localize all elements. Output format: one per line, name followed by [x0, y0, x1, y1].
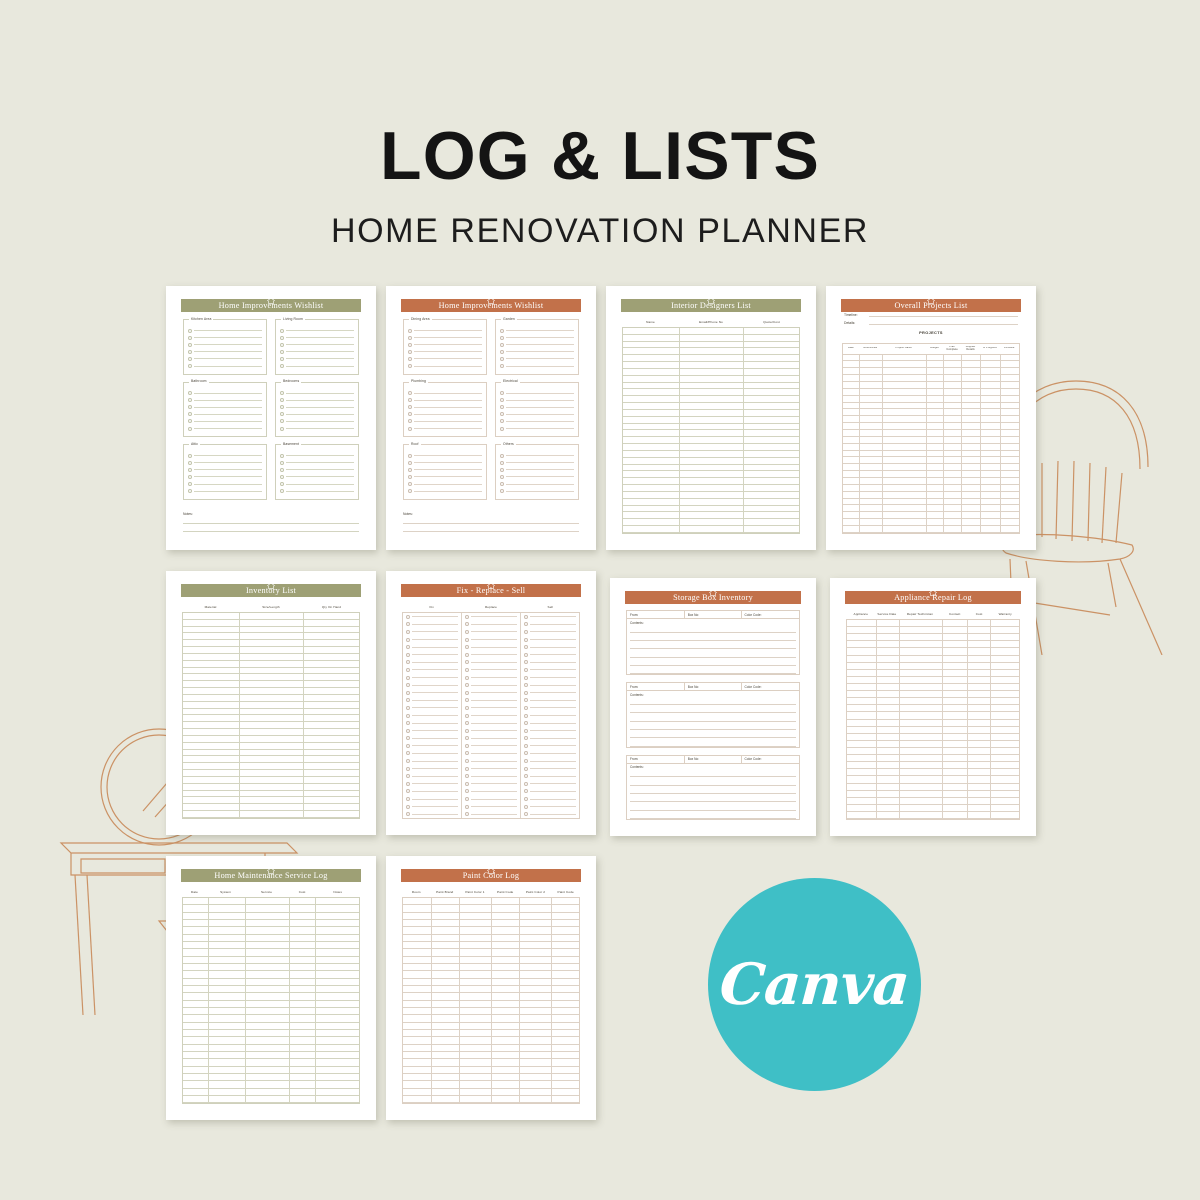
checkbox-circle-icon[interactable] — [406, 630, 410, 634]
write-line[interactable] — [286, 484, 354, 485]
write-line[interactable] — [412, 669, 458, 670]
table-row[interactable] — [843, 478, 1019, 485]
write-line[interactable] — [471, 700, 517, 701]
table-row[interactable] — [183, 898, 359, 905]
write-line[interactable] — [530, 791, 576, 792]
checklist-item[interactable] — [462, 621, 520, 629]
checklist-item[interactable] — [462, 697, 520, 705]
table-row[interactable] — [847, 648, 1019, 655]
write-line[interactable] — [194, 414, 262, 415]
checklist-item[interactable] — [521, 735, 579, 743]
checkbox-circle-icon[interactable] — [524, 645, 528, 649]
table-row[interactable] — [403, 964, 579, 971]
write-line[interactable] — [630, 713, 796, 721]
table-row[interactable] — [843, 423, 1019, 430]
write-line[interactable] — [412, 692, 458, 693]
write-line[interactable] — [194, 455, 262, 456]
checkbox-circle-icon[interactable] — [500, 343, 504, 347]
checklist-item[interactable] — [403, 704, 461, 712]
checklist-item[interactable] — [462, 643, 520, 651]
write-line[interactable] — [471, 707, 517, 708]
write-line[interactable] — [412, 814, 458, 815]
table-row[interactable] — [843, 382, 1019, 389]
write-line[interactable] — [506, 393, 574, 394]
table-row[interactable] — [847, 656, 1019, 663]
table-row[interactable] — [623, 348, 799, 355]
checkbox-circle-icon[interactable] — [524, 676, 528, 680]
write-line[interactable] — [194, 421, 262, 422]
write-line[interactable] — [286, 428, 354, 429]
planner-page-interior-designers-list[interactable]: Interior Designers ListNameEmail/Phone N… — [606, 286, 816, 550]
table-row[interactable] — [843, 526, 1019, 533]
planner-page-appliance-repair-log[interactable]: Appliance Repair LogApplianceService Dat… — [830, 578, 1036, 836]
checkbox-circle-icon[interactable] — [406, 721, 410, 725]
checkbox-circle-icon[interactable] — [280, 454, 284, 458]
storage-content-lines[interactable] — [627, 769, 799, 819]
table-row[interactable] — [183, 1059, 359, 1066]
checkbox-circle-icon[interactable] — [280, 336, 284, 340]
write-line[interactable] — [286, 462, 354, 463]
table-row[interactable] — [843, 451, 1019, 458]
checkbox-circle-icon[interactable] — [500, 350, 504, 354]
wishlist-item[interactable] — [500, 488, 574, 495]
write-line[interactable] — [630, 658, 796, 666]
wishlist-item[interactable] — [408, 404, 482, 411]
table-row[interactable] — [623, 417, 799, 424]
write-line[interactable] — [414, 462, 482, 463]
table-row[interactable] — [183, 920, 359, 927]
table-row[interactable] — [847, 805, 1019, 812]
table-row[interactable] — [183, 633, 359, 640]
field-input-line[interactable] — [869, 312, 1018, 317]
write-line[interactable] — [630, 633, 796, 641]
table-row[interactable] — [183, 971, 359, 978]
table-row[interactable] — [623, 383, 799, 390]
write-line[interactable] — [471, 677, 517, 678]
table-row[interactable] — [403, 1030, 579, 1037]
table-row[interactable] — [183, 1008, 359, 1015]
checkbox-circle-icon[interactable] — [408, 364, 412, 368]
form-field[interactable]: Timeline: — [844, 312, 1018, 317]
checkbox-circle-icon[interactable] — [465, 706, 469, 710]
table-row[interactable] — [623, 471, 799, 478]
write-line[interactable] — [412, 677, 458, 678]
write-line[interactable] — [194, 491, 262, 492]
table-row[interactable] — [847, 663, 1019, 670]
planner-page-overall-projects-list[interactable]: Overall Projects ListTimeline:Details:PR… — [826, 286, 1036, 550]
write-line[interactable] — [412, 707, 458, 708]
table-row[interactable] — [183, 784, 359, 791]
table-row[interactable] — [183, 688, 359, 695]
checklist-item[interactable] — [462, 727, 520, 735]
checkbox-circle-icon[interactable] — [500, 482, 504, 486]
checkbox-circle-icon[interactable] — [524, 721, 528, 725]
write-line[interactable] — [530, 669, 576, 670]
wishlist-item[interactable] — [500, 334, 574, 341]
checkbox-circle-icon[interactable] — [500, 427, 504, 431]
wishlist-item[interactable] — [188, 327, 262, 334]
write-line[interactable] — [471, 783, 517, 784]
checkbox-circle-icon[interactable] — [465, 615, 469, 619]
checkbox-circle-icon[interactable] — [406, 729, 410, 733]
table-body[interactable] — [846, 619, 1020, 820]
checkbox-circle-icon[interactable] — [188, 489, 192, 493]
checkbox-circle-icon[interactable] — [500, 454, 504, 458]
checklist-item[interactable] — [403, 651, 461, 659]
table-row[interactable] — [183, 964, 359, 971]
write-line[interactable] — [412, 723, 458, 724]
write-line[interactable] — [471, 654, 517, 655]
checkbox-circle-icon[interactable] — [465, 805, 469, 809]
checkbox-circle-icon[interactable] — [280, 461, 284, 465]
table-row[interactable] — [847, 634, 1019, 641]
checkbox-circle-icon[interactable] — [188, 329, 192, 333]
checkbox-circle-icon[interactable] — [465, 653, 469, 657]
wishlist-item[interactable] — [188, 459, 262, 466]
table-row[interactable] — [183, 722, 359, 729]
write-line[interactable] — [630, 738, 796, 746]
table-row[interactable] — [843, 355, 1019, 362]
write-line[interactable] — [412, 806, 458, 807]
checkbox-circle-icon[interactable] — [408, 329, 412, 333]
checkbox-circle-icon[interactable] — [500, 329, 504, 333]
write-line[interactable] — [194, 351, 262, 352]
checkbox-circle-icon[interactable] — [188, 391, 192, 395]
table-row[interactable] — [183, 647, 359, 654]
table-row[interactable] — [183, 654, 359, 661]
checkbox-circle-icon[interactable] — [280, 329, 284, 333]
table-row[interactable] — [847, 727, 1019, 734]
table-row[interactable] — [183, 1037, 359, 1044]
checkbox-circle-icon[interactable] — [406, 653, 410, 657]
write-line[interactable] — [286, 330, 354, 331]
table-row[interactable] — [843, 368, 1019, 375]
write-line[interactable] — [414, 428, 482, 429]
checklist-item[interactable] — [462, 613, 520, 621]
checkbox-circle-icon[interactable] — [465, 797, 469, 801]
table-row[interactable] — [183, 804, 359, 811]
checkbox-circle-icon[interactable] — [408, 468, 412, 472]
write-line[interactable] — [471, 799, 517, 800]
checkbox-circle-icon[interactable] — [524, 638, 528, 642]
checkbox-circle-icon[interactable] — [524, 660, 528, 664]
wishlist-item[interactable] — [500, 481, 574, 488]
table-row[interactable] — [843, 430, 1019, 437]
write-line[interactable] — [530, 814, 576, 815]
wishlist-item[interactable] — [500, 404, 574, 411]
table-row[interactable] — [623, 335, 799, 342]
table-row[interactable] — [183, 763, 359, 770]
wishlist-item[interactable] — [500, 425, 574, 432]
checkbox-circle-icon[interactable] — [524, 797, 528, 801]
write-line[interactable] — [414, 414, 482, 415]
write-line[interactable] — [506, 366, 574, 367]
table-row[interactable] — [183, 743, 359, 750]
table-row[interactable] — [403, 993, 579, 1000]
table-row[interactable] — [183, 640, 359, 647]
write-line[interactable] — [414, 421, 482, 422]
write-line[interactable] — [530, 616, 576, 617]
checkbox-circle-icon[interactable] — [408, 357, 412, 361]
table-row[interactable] — [183, 736, 359, 743]
write-line[interactable] — [471, 738, 517, 739]
checklist-item[interactable] — [521, 795, 579, 803]
checkbox-circle-icon[interactable] — [500, 412, 504, 416]
checkbox-circle-icon[interactable] — [406, 698, 410, 702]
checkbox-circle-icon[interactable] — [408, 398, 412, 402]
checkbox-circle-icon[interactable] — [280, 343, 284, 347]
checkbox-circle-icon[interactable] — [280, 412, 284, 416]
write-line[interactable] — [506, 484, 574, 485]
table-row[interactable] — [623, 512, 799, 519]
table-row[interactable] — [403, 971, 579, 978]
write-line[interactable] — [412, 715, 458, 716]
table-row[interactable] — [847, 769, 1019, 776]
table-row[interactable] — [847, 641, 1019, 648]
table-row[interactable] — [843, 464, 1019, 471]
write-line[interactable] — [530, 768, 576, 769]
checkbox-circle-icon[interactable] — [406, 736, 410, 740]
wishlist-item[interactable] — [408, 334, 482, 341]
write-line[interactable] — [414, 351, 482, 352]
write-line[interactable] — [506, 491, 574, 492]
table-row[interactable] — [843, 375, 1019, 382]
canva-logo-badge[interactable]: Canva — [708, 878, 921, 1091]
checkbox-circle-icon[interactable] — [500, 489, 504, 493]
write-line[interactable] — [506, 428, 574, 429]
checkbox-circle-icon[interactable] — [500, 419, 504, 423]
write-line[interactable] — [194, 366, 262, 367]
checkbox-circle-icon[interactable] — [500, 405, 504, 409]
table-row[interactable] — [183, 1052, 359, 1059]
write-line[interactable] — [194, 330, 262, 331]
checkbox-circle-icon[interactable] — [524, 767, 528, 771]
checklist-item[interactable] — [462, 674, 520, 682]
write-line[interactable] — [194, 344, 262, 345]
table-row[interactable] — [843, 396, 1019, 403]
write-line[interactable] — [471, 692, 517, 693]
checklist-item[interactable] — [462, 795, 520, 803]
write-line[interactable] — [506, 358, 574, 359]
table-row[interactable] — [183, 1081, 359, 1088]
checklist-item[interactable] — [462, 742, 520, 750]
write-line[interactable] — [403, 516, 579, 524]
table-row[interactable] — [183, 993, 359, 1000]
wishlist-item[interactable] — [408, 488, 482, 495]
write-line[interactable] — [630, 666, 796, 674]
checklist-item[interactable] — [521, 704, 579, 712]
table-row[interactable] — [847, 620, 1019, 627]
table-row[interactable] — [847, 734, 1019, 741]
table-row[interactable] — [403, 927, 579, 934]
write-line[interactable] — [530, 662, 576, 663]
write-line[interactable] — [414, 393, 482, 394]
table-row[interactable] — [183, 949, 359, 956]
checkbox-circle-icon[interactable] — [188, 364, 192, 368]
wishlist-item[interactable] — [188, 466, 262, 473]
checkbox-circle-icon[interactable] — [524, 653, 528, 657]
write-line[interactable] — [194, 400, 262, 401]
checkbox-circle-icon[interactable] — [524, 774, 528, 778]
table-row[interactable] — [623, 451, 799, 458]
checkbox-circle-icon[interactable] — [500, 398, 504, 402]
wishlist-item[interactable] — [500, 418, 574, 425]
checkbox-circle-icon[interactable] — [465, 660, 469, 664]
write-line[interactable] — [414, 366, 482, 367]
table-row[interactable] — [847, 691, 1019, 698]
wishlist-item[interactable] — [188, 397, 262, 404]
table-row[interactable] — [843, 471, 1019, 478]
checklist-item[interactable] — [462, 659, 520, 667]
checkbox-circle-icon[interactable] — [465, 782, 469, 786]
write-line[interactable] — [412, 776, 458, 777]
checkbox-circle-icon[interactable] — [465, 721, 469, 725]
table-row[interactable] — [403, 1081, 579, 1088]
table-row[interactable] — [183, 627, 359, 634]
table-row[interactable] — [183, 681, 359, 688]
table-row[interactable] — [403, 1037, 579, 1044]
table-row[interactable] — [183, 957, 359, 964]
checkbox-circle-icon[interactable] — [406, 751, 410, 755]
checkbox-circle-icon[interactable] — [408, 475, 412, 479]
checkbox-circle-icon[interactable] — [465, 638, 469, 642]
table-row[interactable] — [403, 1015, 579, 1022]
write-line[interactable] — [530, 723, 576, 724]
checkbox-circle-icon[interactable] — [406, 812, 410, 816]
wishlist-item[interactable] — [280, 411, 354, 418]
write-line[interactable] — [471, 776, 517, 777]
write-line[interactable] — [412, 730, 458, 731]
checklist-item[interactable] — [403, 795, 461, 803]
write-line[interactable] — [183, 524, 359, 532]
write-line[interactable] — [506, 476, 574, 477]
checkbox-circle-icon[interactable] — [280, 475, 284, 479]
write-line[interactable] — [471, 791, 517, 792]
checklist-item[interactable] — [521, 643, 579, 651]
write-line[interactable] — [194, 462, 262, 463]
checklist-item[interactable] — [462, 719, 520, 727]
write-line[interactable] — [471, 624, 517, 625]
table-row[interactable] — [183, 715, 359, 722]
checklist-item[interactable] — [521, 719, 579, 727]
wishlist-item[interactable] — [280, 348, 354, 355]
table-row[interactable] — [847, 741, 1019, 748]
table-row[interactable] — [623, 465, 799, 472]
checkbox-circle-icon[interactable] — [408, 391, 412, 395]
checkbox-circle-icon[interactable] — [524, 714, 528, 718]
wishlist-item[interactable] — [280, 397, 354, 404]
checklist-item[interactable] — [521, 681, 579, 689]
planner-page-paint-color-log[interactable]: Paint Color LogRoomPaint BrandPaint Colo… — [386, 856, 596, 1120]
checkbox-circle-icon[interactable] — [524, 782, 528, 786]
checkbox-circle-icon[interactable] — [465, 736, 469, 740]
checklist-item[interactable] — [462, 704, 520, 712]
wishlist-item[interactable] — [280, 473, 354, 480]
wishlist-item[interactable] — [500, 452, 574, 459]
checklist-item[interactable] — [462, 712, 520, 720]
wishlist-item[interactable] — [280, 390, 354, 397]
table-row[interactable] — [847, 705, 1019, 712]
table-row[interactable] — [403, 986, 579, 993]
checkbox-circle-icon[interactable] — [406, 638, 410, 642]
checklist-item[interactable] — [521, 712, 579, 720]
checkbox-circle-icon[interactable] — [465, 668, 469, 672]
write-line[interactable] — [194, 476, 262, 477]
checkbox-circle-icon[interactable] — [188, 482, 192, 486]
checklist-item[interactable] — [403, 697, 461, 705]
table-row[interactable] — [183, 661, 359, 668]
write-line[interactable] — [412, 639, 458, 640]
table-row[interactable] — [843, 512, 1019, 519]
checklist-item[interactable] — [521, 613, 579, 621]
checkbox-circle-icon[interactable] — [524, 759, 528, 763]
wishlist-item[interactable] — [188, 362, 262, 369]
checkbox-circle-icon[interactable] — [188, 350, 192, 354]
wishlist-item[interactable] — [280, 355, 354, 362]
table-row[interactable] — [183, 1015, 359, 1022]
write-line[interactable] — [194, 358, 262, 359]
planner-page-inventory-list[interactable]: Inventory ListMaterialSize/LengthQty On … — [166, 571, 376, 835]
checkbox-circle-icon[interactable] — [406, 744, 410, 748]
write-line[interactable] — [286, 491, 354, 492]
storage-content-lines[interactable] — [627, 625, 799, 675]
table-row[interactable] — [623, 437, 799, 444]
checkbox-circle-icon[interactable] — [524, 751, 528, 755]
checklist-item[interactable] — [521, 621, 579, 629]
checklist-item[interactable] — [462, 788, 520, 796]
table-row[interactable] — [847, 712, 1019, 719]
write-line[interactable] — [630, 625, 796, 633]
write-line[interactable] — [530, 639, 576, 640]
table-row[interactable] — [847, 776, 1019, 783]
checkbox-circle-icon[interactable] — [524, 729, 528, 733]
table-row[interactable] — [843, 492, 1019, 499]
write-line[interactable] — [286, 393, 354, 394]
wishlist-item[interactable] — [500, 473, 574, 480]
checklist-item[interactable] — [403, 757, 461, 765]
write-line[interactable] — [471, 685, 517, 686]
write-line[interactable] — [471, 647, 517, 648]
table-row[interactable] — [183, 620, 359, 627]
checkbox-circle-icon[interactable] — [465, 767, 469, 771]
wishlist-item[interactable] — [500, 327, 574, 334]
checkbox-circle-icon[interactable] — [524, 683, 528, 687]
table-row[interactable] — [183, 1030, 359, 1037]
table-row[interactable] — [183, 913, 359, 920]
write-line[interactable] — [471, 669, 517, 670]
write-line[interactable] — [412, 631, 458, 632]
checkbox-circle-icon[interactable] — [465, 759, 469, 763]
table-row[interactable] — [183, 927, 359, 934]
checkbox-circle-icon[interactable] — [280, 482, 284, 486]
write-line[interactable] — [630, 649, 796, 657]
write-line[interactable] — [506, 330, 574, 331]
checkbox-circle-icon[interactable] — [406, 660, 410, 664]
checkbox-circle-icon[interactable] — [406, 767, 410, 771]
write-line[interactable] — [471, 730, 517, 731]
write-line[interactable] — [506, 414, 574, 415]
wishlist-item[interactable] — [280, 327, 354, 334]
checkbox-circle-icon[interactable] — [280, 427, 284, 431]
write-line[interactable] — [412, 791, 458, 792]
checklist-item[interactable] — [403, 621, 461, 629]
table-row[interactable] — [843, 416, 1019, 423]
write-line[interactable] — [412, 761, 458, 762]
write-line[interactable] — [471, 745, 517, 746]
write-line[interactable] — [471, 662, 517, 663]
checklist-item[interactable] — [403, 750, 461, 758]
checkbox-circle-icon[interactable] — [465, 744, 469, 748]
